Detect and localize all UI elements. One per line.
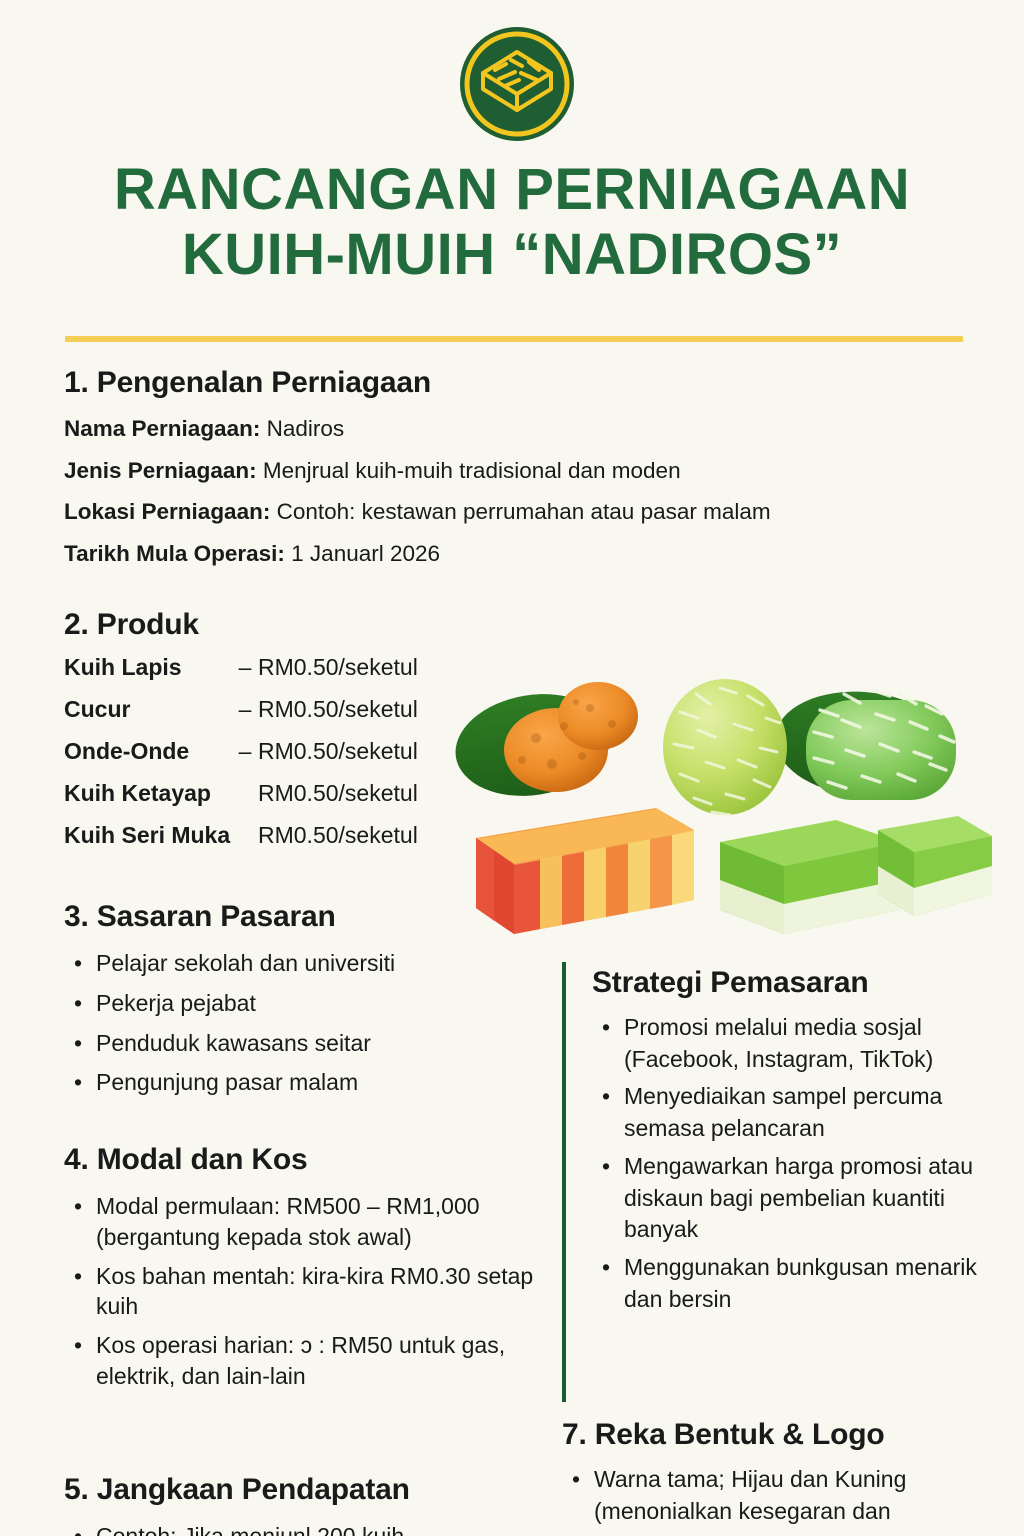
product-price: RM0.50/seketul (258, 698, 418, 721)
bullet-icon: • (602, 1012, 610, 1043)
green-vertical-divider (562, 962, 566, 1402)
section2-heading: 2. Produk (64, 608, 484, 642)
list-item-text: Contoh: Jika menjunl 200 kuih (96, 1523, 404, 1536)
sasaran-list: •Pelajar sekolah dan universiti •Pekerja… (64, 948, 534, 1098)
list-item-text: Menggunakan bunkgusan menarik dan bersin (624, 1254, 977, 1312)
bullet-icon: • (602, 1151, 610, 1182)
info-row-jenis: Jenis Perniagaan: Menjrual kuih-muih tra… (64, 460, 974, 483)
list-item: •Pengunjung pasar malam (64, 1067, 534, 1098)
product-dash: – (232, 698, 258, 721)
marketing-list: •Promosi melalui media sosjal (Facebook,… (592, 1012, 992, 1316)
product-row: Kuih Lapis – RM0.50/seketul (64, 656, 484, 679)
product-price: RM0.50/seketul (258, 740, 418, 763)
section5-heading: 5. Jangkaan Pendapatan (64, 1473, 564, 1507)
section-produk: 2. Produk Kuih Lapis – RM0.50/seketul Cu… (64, 608, 484, 866)
info-value: Contoh: kestawan perrumahan atau pasar m… (277, 499, 771, 524)
product-price: RM0.50/seketul (258, 782, 418, 805)
list-item-text: Kos bahan mentah: kira-kira RM0.30 setap… (96, 1263, 533, 1320)
section-sasaran-pasaran: 3. Sasaran Pasaran •Pelajar sekolah dan … (64, 900, 534, 1107)
page-title: RANCANGAN PERNIAGAAN KUIH-MUIH “NADIROS” (0, 158, 1024, 288)
list-item: •Kos bahan mentah: kira-kira RM0.30 seta… (64, 1261, 554, 1323)
reka-bentuk-list: •Warna tama; Hijau dan Kuning (menonialk… (562, 1464, 1002, 1527)
modal-list: •Modal permulaan: RM500 – RM1,000 (berga… (64, 1191, 554, 1392)
poster-page: RANCANGAN PERNIAGAAN KUIH-MUIH “NADIROS”… (0, 0, 1024, 1536)
bullet-icon: • (74, 988, 82, 1019)
info-row-nama: Nama Perniagaan: Nadiros (64, 418, 974, 441)
bullet-icon: • (602, 1081, 610, 1112)
section-reka-bentuk-logo: 7. Reka Bentuk & Logo •Warna tama; Hijau… (562, 1418, 1002, 1531)
list-item: •Menggunakan bunkgusan menarik dan bersi… (592, 1252, 992, 1315)
list-item: •Pelajar sekolah dan universiti (64, 948, 534, 979)
info-label: Jenis Perniagaan: (64, 458, 257, 483)
list-item-text: Kos operasi harian: ɔ : RM50 untuk gas, … (96, 1332, 505, 1389)
bullet-icon: • (572, 1464, 580, 1495)
product-dash: – (232, 740, 258, 763)
list-item: •Contoh: Jika menjunl 200 kuih (64, 1521, 564, 1536)
bullet-icon: • (74, 1330, 82, 1361)
list-item: •Pekerja pejabat (64, 988, 534, 1019)
list-item-text: Pekerja pejabat (96, 990, 256, 1016)
product-name: Kuih Ketayap (64, 782, 232, 805)
list-item-text: Pelajar sekolah dan universiti (96, 950, 395, 976)
list-item-text: Warna tama; Hijau dan Kuning (menonialka… (594, 1466, 906, 1524)
info-label: Nama Perniagaan: (64, 416, 260, 441)
list-item: •Promosi melalui media sosjal (Facebook,… (592, 1012, 992, 1075)
list-item-text: Penduduk kawasans seitar (96, 1030, 371, 1056)
product-price: RM0.50/seketul (258, 824, 418, 847)
product-price: RM0.50/seketul (258, 656, 418, 679)
bullet-icon: • (74, 1521, 82, 1536)
info-label: Lokasi Perniagaan: (64, 499, 270, 524)
yellow-divider (65, 336, 963, 342)
product-row: Cucur – RM0.50/seketul (64, 698, 484, 721)
marketing-heading: Strategi Pemasaran (592, 966, 992, 1000)
section-jangkaan-pendapatan: 5. Jangkaan Pendapatan •Contoh: Jika men… (64, 1473, 564, 1536)
product-name: Kuih Lapis (64, 656, 232, 679)
cucur (558, 682, 638, 750)
list-item: •Kos operasi harian: ɔ : RM50 untuk gas,… (64, 1330, 554, 1392)
kuih-lapis-cake-logo-icon (459, 26, 575, 142)
list-item: •Penduduk kawasans seitar (64, 1028, 534, 1059)
bullet-icon: • (602, 1252, 610, 1283)
kuih-seri-muka (720, 816, 992, 934)
list-item-text: Modal permulaan: RM500 – RM1,000 (bergan… (96, 1193, 480, 1250)
list-item-text: Promosi melalui media sosjal (Facebook, … (624, 1014, 933, 1072)
product-row: Onde-Onde – RM0.50/seketul (64, 740, 484, 763)
section-modal-dan-kos: 4. Modal dan Kos •Modal permulaan: RM500… (64, 1143, 554, 1400)
section7-heading: 7. Reka Bentuk & Logo (562, 1418, 1002, 1452)
section3-heading: 3. Sasaran Pasaran (64, 900, 534, 934)
list-item: •Warna tama; Hijau dan Kuning (menonialk… (562, 1464, 1002, 1527)
info-row-tarikh: Tarikh Mula Operasi: 1 Januarl 2026 (64, 543, 974, 566)
bullet-icon: • (74, 948, 82, 979)
info-value: Nadiros (267, 416, 345, 441)
info-value: 1 Januarl 2026 (291, 541, 440, 566)
brand-logo (459, 26, 575, 142)
product-name: Kuih Seri Muka (64, 824, 254, 847)
product-name: Onde-Onde (64, 740, 232, 763)
bullet-icon: • (74, 1191, 82, 1222)
kuih-muih-photo (448, 652, 1000, 942)
info-row-lokasi: Lokasi Perniagaan: Contoh: kestawan perr… (64, 501, 974, 524)
list-item: •Modal permulaan: RM500 – RM1,000 (berga… (64, 1191, 554, 1253)
list-item-text: Menyediaikan sampel percuma semasa pelan… (624, 1083, 942, 1141)
title-line-1: RANCANGAN PERNIAGAAN (0, 158, 1024, 223)
product-row: Kuih Seri Muka RM0.50/seketul (64, 824, 484, 847)
kuih-ketayap (806, 690, 956, 800)
pendapatan-list: •Contoh: Jika menjunl 200 kuih (64, 1521, 564, 1536)
section-strategi-pemasaran: Strategi Pemasaran •Promosi melalui medi… (592, 966, 992, 1322)
list-item: •Mengawarkan harga promosi atau diskaun … (592, 1151, 992, 1246)
product-name: Cucur (64, 698, 232, 721)
section1-heading: 1. Pengenalan Perniagaan (64, 366, 974, 400)
bullet-icon: • (74, 1261, 82, 1292)
list-item-text: Mengawarkan harga promosi atau diskaun b… (624, 1153, 973, 1242)
bullet-icon: • (74, 1067, 82, 1098)
section-pengenalan-perniagaan: 1. Pengenalan Perniagaan Nama Perniagaan… (64, 366, 974, 584)
list-item: •Menyediaikan sampel percuma semasa pela… (592, 1081, 992, 1144)
product-row: Kuih Ketayap RM0.50/seketul (64, 782, 484, 805)
list-item-text: Pengunjung pasar malam (96, 1069, 358, 1095)
product-dash: – (232, 656, 258, 679)
info-label: Tarikh Mula Operasi: (64, 541, 285, 566)
info-value: Menjrual kuih-muih tradisional dan moden (263, 458, 681, 483)
product-dash (232, 782, 258, 805)
title-line-2: KUIH-MUIH “NADIROS” (0, 223, 1024, 288)
bullet-icon: • (74, 1028, 82, 1059)
section4-heading: 4. Modal dan Kos (64, 1143, 554, 1177)
